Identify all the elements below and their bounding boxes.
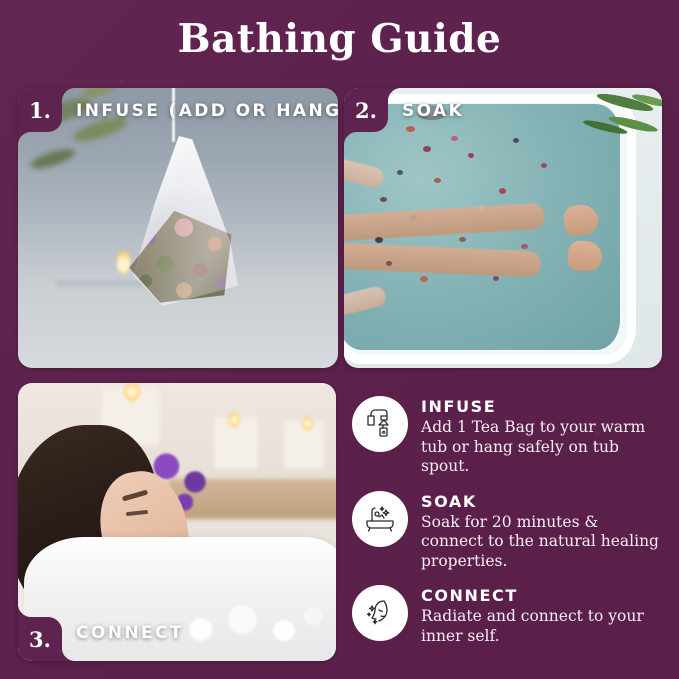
panel-caption-1: INFUSE (ADD OR HANG) [76,101,338,121]
page-title: Bathing Guide [0,16,679,62]
step-title-soak: SOAK [421,492,664,511]
panel-number-badge-3: 3. [18,617,62,661]
step-body-connect: Radiate and connect to your inner self. [421,607,664,646]
panel-number-badge-2: 2. [344,88,388,132]
step-photo-infuse: 1. INFUSE (ADD OR HANG) [18,88,338,368]
instruction-steps-list: INFUSE Add 1 Tea Bag to your warm tub or… [352,396,664,660]
step-title-connect: CONNECT [421,586,664,605]
step-title-infuse: INFUSE [421,397,664,416]
faucet-tea-bag-icon [352,396,408,452]
step-body-infuse: Add 1 Tea Bag to your warm tub or hang s… [421,418,664,477]
instruction-step-infuse: INFUSE Add 1 Tea Bag to your warm tub or… [352,396,664,477]
bathtub-sparkle-icon [352,491,408,547]
face-sparkle-icon [352,585,408,641]
panel-number-badge-1: 1. [18,88,62,132]
instruction-step-connect: CONNECT Radiate and connect to your inne… [352,585,664,646]
step-body-soak: Soak for 20 minutes & connect to the nat… [421,513,664,572]
instruction-step-soak: SOAK Soak for 20 minutes & connect to th… [352,491,664,572]
step-photo-soak: 2. SOAK [344,88,662,368]
step-photo-connect: 3. CONNECT [18,383,336,661]
panel-caption-3: CONNECT [76,623,184,643]
photo-infuse [18,88,338,368]
photo-soak [344,88,662,368]
panel-caption-2: SOAK [402,101,464,121]
photo-connect [18,383,336,661]
